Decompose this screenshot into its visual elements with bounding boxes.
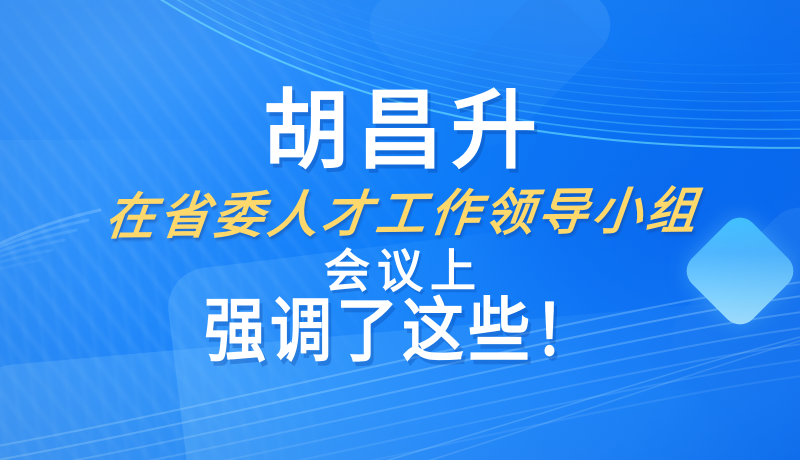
- promo-banner: 胡昌升 在省委人才工作领导小组 会议上 强调了这些！: [0, 0, 800, 460]
- headline-meeting-line: 会议上: [317, 247, 483, 295]
- headline-emphasis-line: 强调了这些！: [200, 295, 600, 368]
- headline-name: 胡昌升: [255, 88, 545, 174]
- headline-text-block: 胡昌升 在省委人才工作领导小组 会议上 强调了这些！: [0, 0, 800, 460]
- headline-script-line: 在省委人才工作领导小组: [97, 185, 704, 244]
